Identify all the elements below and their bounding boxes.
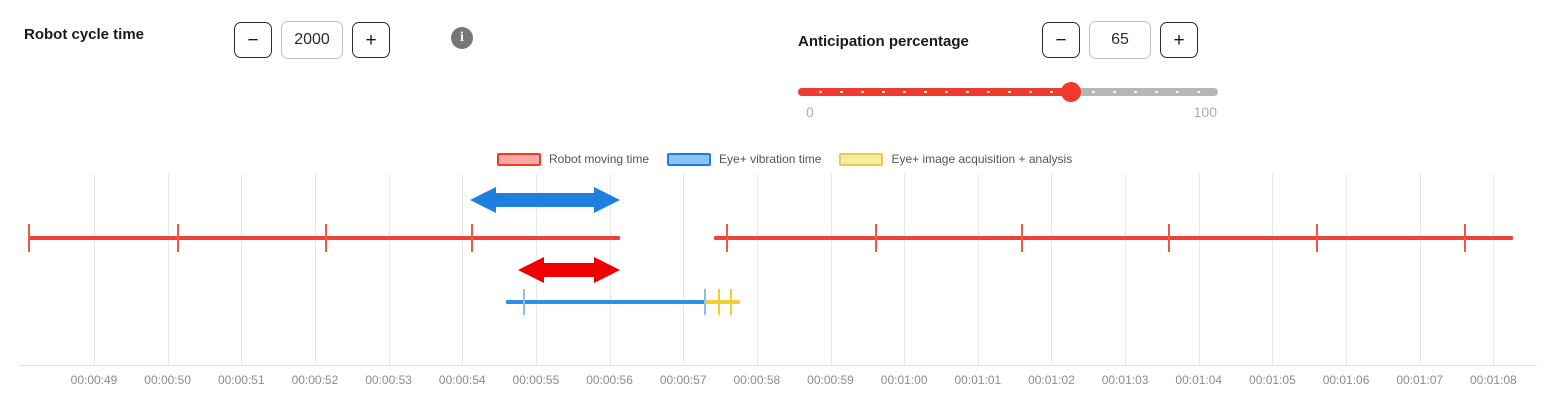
timeline-simulator-panel: Robot cycle time − 2000 + i Anticipation…: [0, 0, 1557, 401]
chart-gridline: [1346, 174, 1347, 366]
slider-ticks: [798, 88, 1218, 96]
slider-tick: [987, 91, 990, 93]
x-axis-tick-label: 00:00:49: [71, 373, 118, 387]
slider-tick: [861, 91, 864, 93]
robot-cycle-time-decrement-button[interactable]: −: [234, 22, 272, 58]
x-axis-tick-label: 00:01:06: [1323, 373, 1370, 387]
timeline-event-tick[interactable]: [1316, 224, 1318, 252]
chart-gridline: [904, 174, 905, 366]
x-axis-tick-label: 00:00:51: [218, 373, 265, 387]
anticipation-percentage-stepper: − 65 +: [1042, 21, 1198, 59]
timeline-event-tick[interactable]: [726, 224, 728, 252]
chart-gridline: [1051, 174, 1052, 366]
anticipation-slider[interactable]: 0 100: [798, 84, 1218, 100]
x-axis-tick-label: 00:00:52: [292, 373, 339, 387]
chart-gridline: [94, 174, 95, 366]
legend-label: Eye+ vibration time: [719, 152, 821, 166]
x-axis-tick-label: 00:01:03: [1102, 373, 1149, 387]
x-axis-tick-labels: 00:00:4900:00:5000:00:5100:00:5200:00:53…: [0, 373, 1557, 393]
slider-max-label: 100: [1194, 104, 1217, 120]
legend-item[interactable]: Robot moving time: [497, 152, 649, 166]
anticipation-increment-button[interactable]: +: [1160, 22, 1198, 58]
timeline-chart: [0, 174, 1557, 366]
slider-tick: [945, 91, 948, 93]
x-axis-tick-label: 00:01:00: [881, 373, 928, 387]
timeline-segment[interactable]: [28, 236, 620, 240]
chart-gridline: [978, 174, 979, 366]
chart-gridline: [1493, 174, 1494, 366]
legend-swatch: [497, 153, 541, 166]
slider-tick: [1155, 91, 1158, 93]
axis-baseline: [20, 365, 1537, 366]
anticipation-span-arrow: [518, 248, 620, 292]
chart-gridline: [462, 174, 463, 366]
slider-tick: [966, 91, 969, 93]
slider-tick: [1008, 91, 1011, 93]
slider-tick: [882, 91, 885, 93]
slider-tick: [1092, 91, 1095, 93]
legend-label: Robot moving time: [549, 152, 649, 166]
x-axis-tick-label: 00:01:01: [954, 373, 1001, 387]
timeline-event-tick[interactable]: [1168, 224, 1170, 252]
x-axis-tick-label: 00:01:02: [1028, 373, 1075, 387]
timeline-segment[interactable]: [506, 300, 710, 304]
robot-cycle-time-label: Robot cycle time: [24, 26, 144, 43]
x-axis-tick-label: 00:00:55: [513, 373, 560, 387]
x-axis-tick-label: 00:01:05: [1249, 373, 1296, 387]
slider-tick: [1176, 91, 1179, 93]
x-axis-tick-label: 00:00:57: [660, 373, 707, 387]
anticipation-percentage-label: Anticipation percentage: [798, 33, 969, 50]
robot-cycle-time-value[interactable]: 2000: [281, 21, 343, 59]
x-axis-tick-label: 00:00:54: [439, 373, 486, 387]
chart-gridline: [389, 174, 390, 366]
x-axis-tick-label: 00:00:53: [365, 373, 412, 387]
timeline-event-tick[interactable]: [523, 289, 525, 315]
chart-gridline: [831, 174, 832, 366]
slider-tick: [819, 91, 822, 93]
timeline-event-tick[interactable]: [325, 224, 327, 252]
slider-tick: [1197, 91, 1200, 93]
timeline-segment[interactable]: [705, 300, 740, 304]
timeline-event-tick[interactable]: [1021, 224, 1023, 252]
chart-gridline: [315, 174, 316, 366]
robot-cycle-time-stepper: − 2000 +: [234, 21, 390, 59]
slider-min-label: 0: [806, 104, 814, 120]
anticipation-value[interactable]: 65: [1089, 21, 1151, 59]
slider-tick: [1113, 91, 1116, 93]
chart-gridline: [1125, 174, 1126, 366]
robot-cycle-time-increment-button[interactable]: +: [352, 22, 390, 58]
legend-label: Eye+ image acquisition + analysis: [891, 152, 1072, 166]
legend-swatch: [839, 153, 883, 166]
timeline-event-tick[interactable]: [875, 224, 877, 252]
x-axis-tick-label: 00:01:08: [1470, 373, 1517, 387]
slider-tick: [924, 91, 927, 93]
chart-gridline: [1420, 174, 1421, 366]
x-axis-tick-label: 00:01:07: [1396, 373, 1443, 387]
chart-gridline: [168, 174, 169, 366]
x-axis-tick-label: 00:00:50: [144, 373, 191, 387]
timeline-segment[interactable]: [714, 236, 1513, 240]
chart-gridline: [1272, 174, 1273, 366]
slider-thumb[interactable]: [1061, 82, 1081, 102]
legend-swatch: [667, 153, 711, 166]
timeline-event-tick[interactable]: [730, 289, 732, 315]
slider-tick: [903, 91, 906, 93]
vibration-span-arrow: [470, 178, 620, 222]
chart-gridline: [241, 174, 242, 366]
timeline-event-tick[interactable]: [28, 224, 30, 252]
legend-item[interactable]: Eye+ image acquisition + analysis: [839, 152, 1072, 166]
anticipation-decrement-button[interactable]: −: [1042, 22, 1080, 58]
timeline-event-tick[interactable]: [718, 289, 720, 315]
slider-tick: [840, 91, 843, 93]
timeline-event-tick[interactable]: [177, 224, 179, 252]
chart-gridline: [683, 174, 684, 366]
chart-legend: Robot moving timeEye+ vibration timeEye+…: [497, 150, 1090, 168]
timeline-event-tick[interactable]: [1464, 224, 1466, 252]
legend-item[interactable]: Eye+ vibration time: [667, 152, 821, 166]
slider-tick: [1029, 91, 1032, 93]
timeline-event-tick[interactable]: [471, 224, 473, 252]
slider-tick: [1134, 91, 1137, 93]
x-axis-tick-label: 00:00:56: [586, 373, 633, 387]
chart-gridline: [757, 174, 758, 366]
x-axis-tick-label: 00:00:59: [807, 373, 854, 387]
x-axis-tick-label: 00:00:58: [733, 373, 780, 387]
chart-gridline: [1199, 174, 1200, 366]
slider-tick: [1050, 91, 1053, 93]
x-axis-tick-label: 00:01:04: [1175, 373, 1222, 387]
info-icon[interactable]: i: [451, 27, 473, 49]
